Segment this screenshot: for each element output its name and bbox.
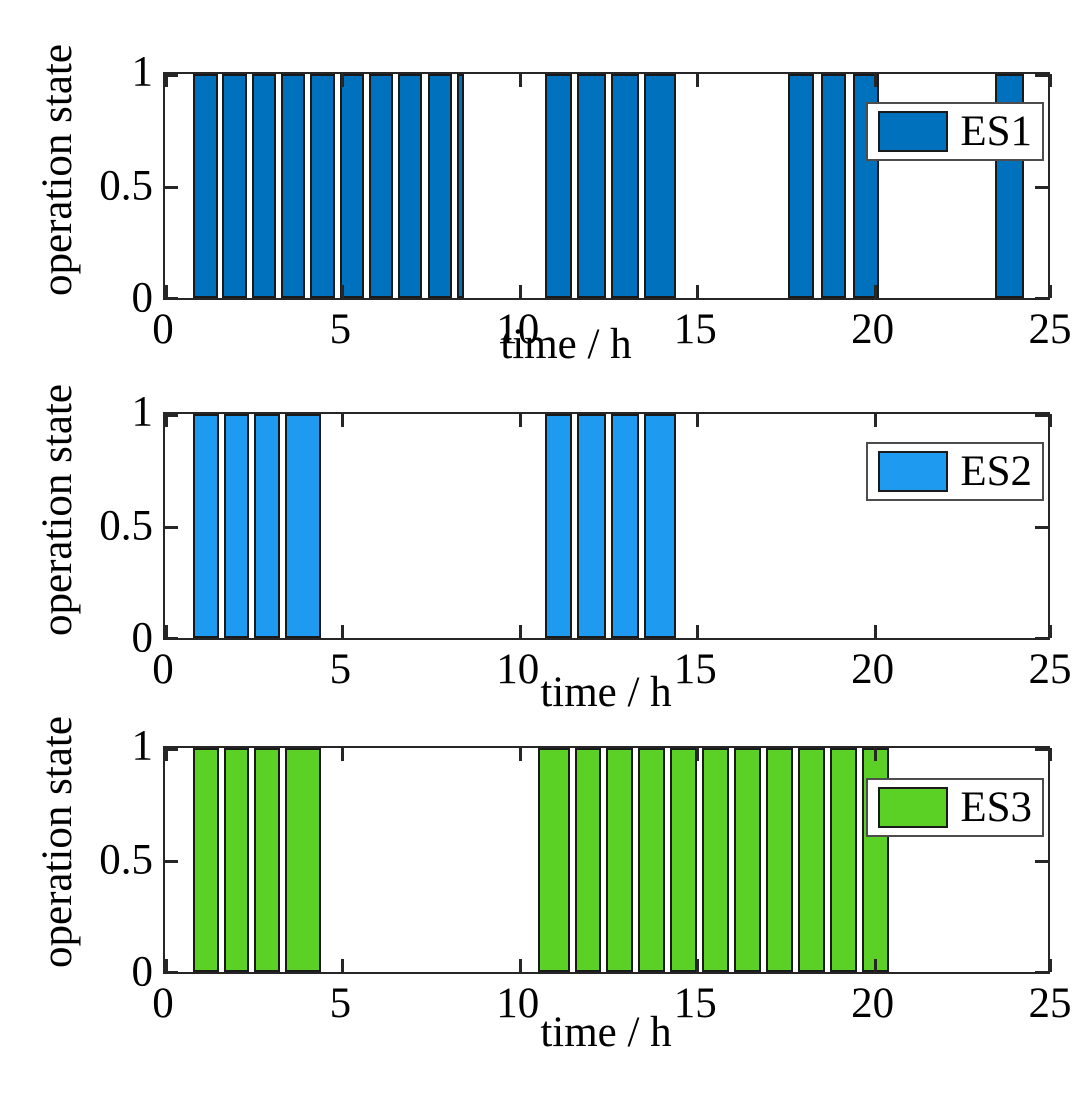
subplot-es3: operation state 1 0.5 0 ES3 0510152025 t… [0,672,1090,1052]
bar [577,414,605,638]
y-tick-label-1-es3: 1 [95,725,153,768]
bar [575,748,601,972]
x-tick-mark-bottom [341,959,344,972]
x-tick-mark-top [1049,414,1052,427]
bar [821,74,847,298]
bar [193,74,217,298]
x-tick-mark-top [341,414,344,427]
x-tick-mark-top [696,74,699,87]
x-tick-label: 20 [833,982,913,1025]
bar [254,414,280,638]
bar [734,748,761,972]
x-tick-mark-bottom [874,285,877,298]
y-tick-mark-es2 [1035,526,1048,529]
bar [310,74,334,298]
x-tick-mark-bottom [874,959,877,972]
bar [193,414,219,638]
y-tick-label-05-es2: 0.5 [95,505,153,548]
x-tick-mark-bottom [519,625,522,638]
y-tick-mark-es2 [165,526,178,529]
bar [577,74,605,298]
x-axis-label-es3: time / h [486,1010,726,1056]
x-tick-mark-bottom [696,625,699,638]
bar [285,414,321,638]
bar [193,748,219,972]
plot-area-es3: ES3 [163,746,1050,974]
x-tick-mark-bottom [1049,625,1052,638]
x-tick-mark-bottom [519,285,522,298]
bar [428,74,452,298]
plot-area-es1: ES1 [163,72,1050,300]
bar [644,74,676,298]
y-tick-mark-es1 [165,186,178,189]
bar [702,748,729,972]
y-tick-label-05-es1: 0.5 [95,165,153,208]
legend-swatch-es3 [878,787,948,828]
y-tick-label-05-es3: 0.5 [95,839,153,882]
x-tick-mark-top [165,74,168,87]
y-tick-mark-es3 [1035,971,1048,974]
bar [766,748,793,972]
y-tick-mark-es3 [165,860,178,863]
bar [606,748,633,972]
x-tick-mark-bottom [696,959,699,972]
bar [254,748,280,972]
x-tick-mark-top [1049,748,1052,761]
legend-swatch-es2 [878,451,948,492]
legend-swatch-es1 [878,111,948,152]
y-tick-mark-es2 [1035,414,1048,417]
y-tick-label-1-es2: 1 [95,391,153,434]
x-tick-mark-top [1049,74,1052,87]
y-axis-label-es2: operation state [36,384,79,636]
x-tick-mark-top [165,414,168,427]
y-tick-mark-es3 [1035,860,1048,863]
x-tick-mark-top [519,748,522,761]
x-tick-mark-bottom [1049,959,1052,972]
x-tick-mark-bottom [341,625,344,638]
legend-es3: ES3 [866,778,1044,837]
bar [252,74,276,298]
x-tick-mark-top [696,748,699,761]
x-tick-mark-bottom [341,285,344,298]
y-tick-mark-es1 [1035,74,1048,77]
y-tick-mark-es1 [1035,297,1048,300]
bar [545,74,573,298]
legend-label-es1: ES1 [960,110,1032,153]
x-tick-mark-top [519,74,522,87]
bar [369,74,393,298]
x-tick-mark-top [341,74,344,87]
bar [457,74,464,298]
bar [638,748,665,972]
y-axis-label-es3: operation state [36,716,79,968]
x-tick-mark-top [874,74,877,87]
bar [285,748,321,972]
x-tick-label: 0 [123,982,203,1025]
x-tick-mark-bottom [1049,285,1052,298]
bar [644,414,676,638]
x-tick-mark-bottom [165,625,168,638]
bar [222,74,246,298]
bar [545,414,573,638]
y-tick-label-1-es1: 1 [95,51,153,94]
bar [611,414,639,638]
x-tick-mark-top [341,748,344,761]
bar [398,74,422,298]
bar [340,74,364,298]
y-tick-mark-es2 [1035,637,1048,640]
y-axis-label-es1: operation state [36,44,79,296]
subplot-es2: operation state 1 0.5 0 ES2 0510152025 t… [0,340,1090,710]
x-tick-mark-bottom [165,285,168,298]
plot-area-es2: ES2 [163,412,1050,640]
y-tick-mark-es1 [1035,186,1048,189]
legend-label-es2: ES2 [960,450,1032,493]
bar [788,74,815,298]
subplot-es1: operation state 1 0.5 0 ES1 0510152025 t… [0,0,1090,370]
bar [224,414,250,638]
legend-es1: ES1 [866,102,1044,161]
x-tick-mark-bottom [519,959,522,972]
x-tick-mark-top [874,414,877,427]
x-tick-mark-bottom [696,285,699,298]
bar [830,748,857,972]
legend-es2: ES2 [866,442,1044,501]
x-tick-label: 25 [1010,982,1090,1025]
legend-label-es3: ES3 [960,786,1032,829]
bar [670,748,697,972]
figure-canvas: operation state 1 0.5 0 ES1 0510152025 t… [0,0,1090,1113]
bar [281,74,305,298]
x-tick-label: 5 [300,982,380,1025]
y-tick-mark-es3 [1035,748,1048,751]
bar [538,748,571,972]
x-tick-mark-bottom [165,959,168,972]
x-tick-mark-bottom [874,625,877,638]
bar [224,748,250,972]
x-tick-mark-top [519,414,522,427]
x-tick-mark-top [874,748,877,761]
bar [611,74,639,298]
x-tick-mark-top [165,748,168,761]
x-tick-mark-top [696,414,699,427]
bar [798,748,825,972]
